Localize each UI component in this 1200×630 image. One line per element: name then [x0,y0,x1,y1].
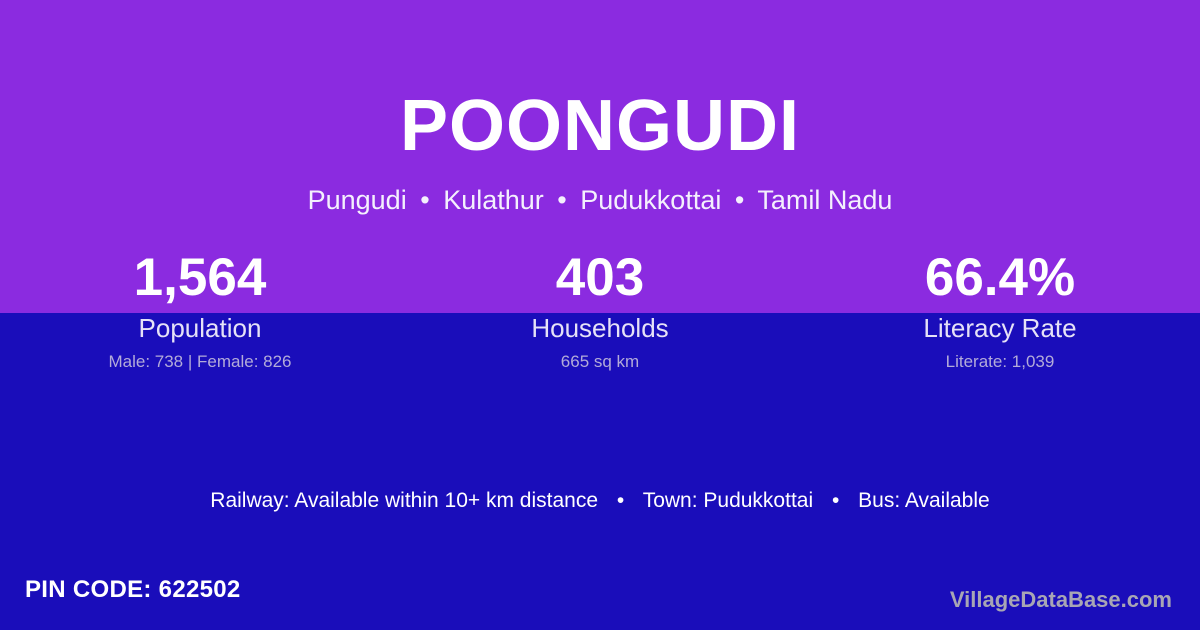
stat-literacy-value: 66.4% [800,246,1200,310]
breadcrumb-item-village: Pungudi [308,185,407,215]
page-title: POONGUDI [0,86,1200,166]
stat-population-label: Population [0,313,400,343]
stat-population-value: 1,564 [0,246,400,310]
breadcrumb-separator: • [414,185,435,215]
stats-row: 1,564 Population Male: 738 | Female: 826… [0,246,1200,372]
amenity-town: Town: Pudukkottai [643,489,813,512]
amenity-bus: Bus: Available [858,489,990,512]
amenity-separator: • [604,489,637,512]
stat-literacy-count: Literate: 1,039 [800,352,1200,372]
stat-literacy-label: Literacy Rate [800,313,1200,343]
stat-households: 403 Households 665 sq km [400,246,800,372]
stat-households-area: 665 sq km [400,352,800,372]
breadcrumb: Pungudi • Kulathur • Pudukkottai • Tamil… [0,182,1200,218]
stat-population-breakdown: Male: 738 | Female: 826 [0,352,400,372]
amenities-line: Railway: Available within 10+ km distanc… [0,487,1200,515]
breadcrumb-item-block: Kulathur [443,185,544,215]
stat-households-value: 403 [400,246,800,310]
village-info-card: POONGUDI Pungudi • Kulathur • Pudukkotta… [0,0,1200,630]
stat-households-label: Households [400,313,800,343]
brand-watermark: VillageDataBase.com [950,586,1172,614]
amenity-railway: Railway: Available within 10+ km distanc… [210,489,598,512]
breadcrumb-separator: • [551,185,572,215]
stat-literacy: 66.4% Literacy Rate Literate: 1,039 [800,246,1200,372]
stat-population: 1,564 Population Male: 738 | Female: 826 [0,246,400,372]
breadcrumb-separator: • [729,185,750,215]
breadcrumb-item-state: Tamil Nadu [757,185,892,215]
pin-code: PIN CODE: 622502 [25,575,241,605]
breadcrumb-item-district: Pudukkottai [580,185,721,215]
amenity-separator: • [819,489,852,512]
